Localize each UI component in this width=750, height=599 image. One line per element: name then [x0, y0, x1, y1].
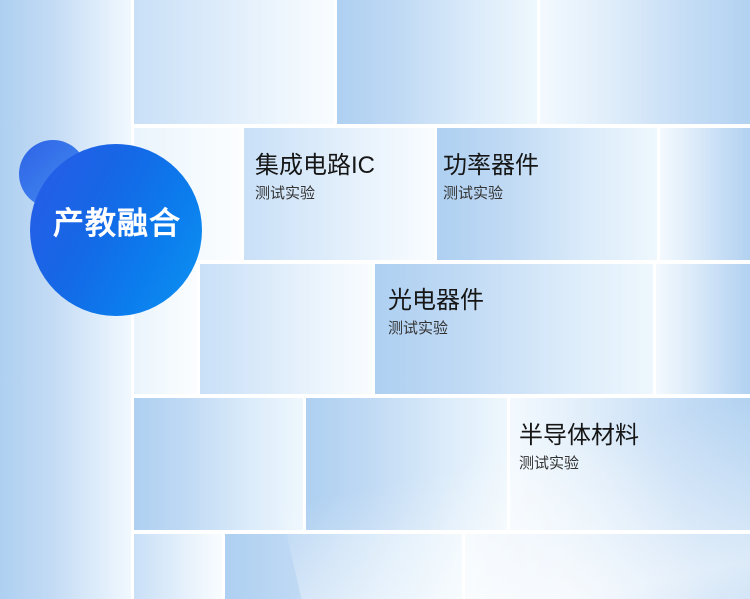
item-title: 光电器件: [388, 288, 484, 315]
item-semiconductor-material[interactable]: 半导体材料 测试实验: [519, 423, 639, 473]
background-tile: [306, 398, 507, 530]
background-tile: [200, 264, 372, 394]
item-title: 功率器件: [443, 153, 539, 180]
background-tile: [656, 264, 750, 394]
background-tile: [660, 128, 750, 260]
item-subtitle: 测试实验: [255, 185, 375, 203]
badge-label: 产教融合: [32, 208, 202, 239]
item-optoelectronic-device[interactable]: 光电器件 测试实验: [388, 288, 484, 338]
background-tile: [540, 0, 750, 124]
item-subtitle: 测试实验: [519, 455, 639, 473]
background-tile: [134, 0, 334, 124]
item-integrated-circuit[interactable]: 集成电路IC 测试实验: [255, 153, 375, 203]
item-power-device[interactable]: 功率器件 测试实验: [443, 153, 539, 203]
item-subtitle: 测试实验: [443, 185, 539, 203]
item-subtitle: 测试实验: [388, 320, 484, 338]
background-tile: [465, 534, 750, 599]
background-tile: [134, 534, 222, 599]
brand-badge: 产教融合: [16, 138, 216, 298]
background-tile: [337, 0, 537, 124]
item-title: 半导体材料: [519, 423, 639, 450]
background-tile: [225, 534, 462, 599]
infographic-banner: 产教融合 集成电路IC 测试实验 功率器件 测试实验 光电器件 测试实验 半导体…: [0, 0, 750, 599]
background-tile: [134, 398, 303, 530]
item-title: 集成电路IC: [255, 153, 375, 180]
